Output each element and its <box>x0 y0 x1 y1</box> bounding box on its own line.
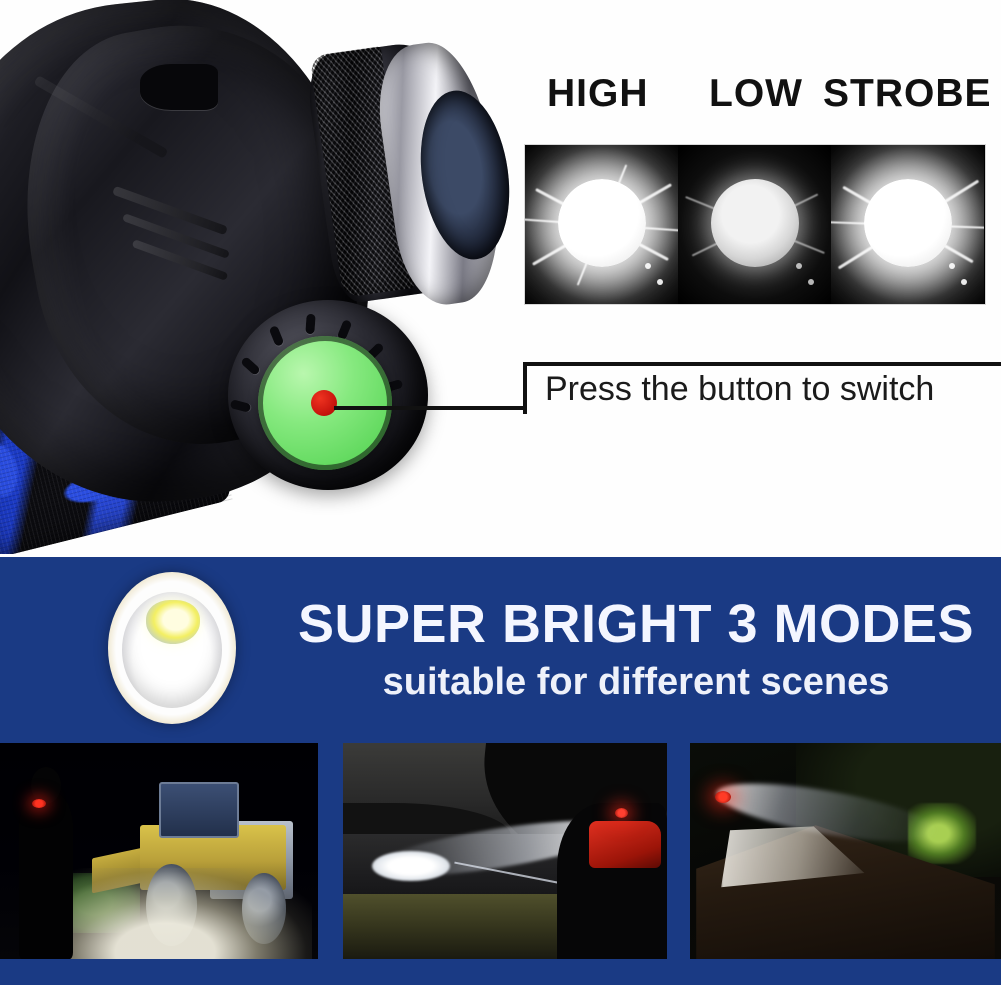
product-infographic: HIGH LOW STROBE <box>0 0 1001 985</box>
spark-dot <box>949 263 955 269</box>
scene-photo-path <box>690 743 1001 959</box>
beam-pool <box>372 851 450 881</box>
led-bulb <box>711 179 799 267</box>
banner-title: SUPER BRIGHT 3 MODES <box>296 596 976 652</box>
callout-leader-line <box>334 406 527 410</box>
scene-photo-loader <box>0 743 318 959</box>
knob-notch <box>269 325 285 347</box>
red-indicator-light <box>32 799 46 808</box>
top-section: HIGH LOW STROBE <box>0 0 1001 557</box>
mode-labels: HIGH LOW STROBE <box>525 72 987 122</box>
banner-subtitle: suitable for different scenes <box>296 660 976 704</box>
knob-notch <box>240 356 261 376</box>
led-modes-strip <box>525 145 985 304</box>
callout-text: Press the button to switch <box>545 370 934 409</box>
mode-label-low: LOW <box>709 72 803 116</box>
led-cell-high <box>525 145 678 304</box>
led-cell-strobe <box>831 145 984 304</box>
mode-label-strobe: STROBE <box>823 72 992 116</box>
knob-notch <box>230 399 252 413</box>
led-bulb <box>558 179 646 267</box>
scene-photo-fishing <box>343 743 667 959</box>
spark-dot <box>796 263 802 269</box>
red-backpack <box>589 821 660 869</box>
loader-cab <box>159 782 239 838</box>
scene-photo-row <box>0 738 1001 985</box>
mode-label-high: HIGH <box>547 72 649 116</box>
headlamp-product-photo <box>0 0 510 554</box>
spark-dot <box>808 279 814 285</box>
knob-notch <box>305 314 315 335</box>
spark-dot <box>657 279 663 285</box>
headlamp-beam-ground <box>45 868 312 959</box>
indicator-dot <box>311 390 337 416</box>
red-indicator-light <box>715 791 731 803</box>
housing-vent <box>140 64 218 110</box>
red-indicator-light <box>615 808 628 818</box>
led-chip-icon <box>146 600 200 644</box>
person-silhouette <box>19 791 73 959</box>
spark-dot <box>645 263 651 269</box>
led-bulb <box>864 179 952 267</box>
spark-dot <box>961 279 967 285</box>
led-cell-low <box>678 145 831 304</box>
